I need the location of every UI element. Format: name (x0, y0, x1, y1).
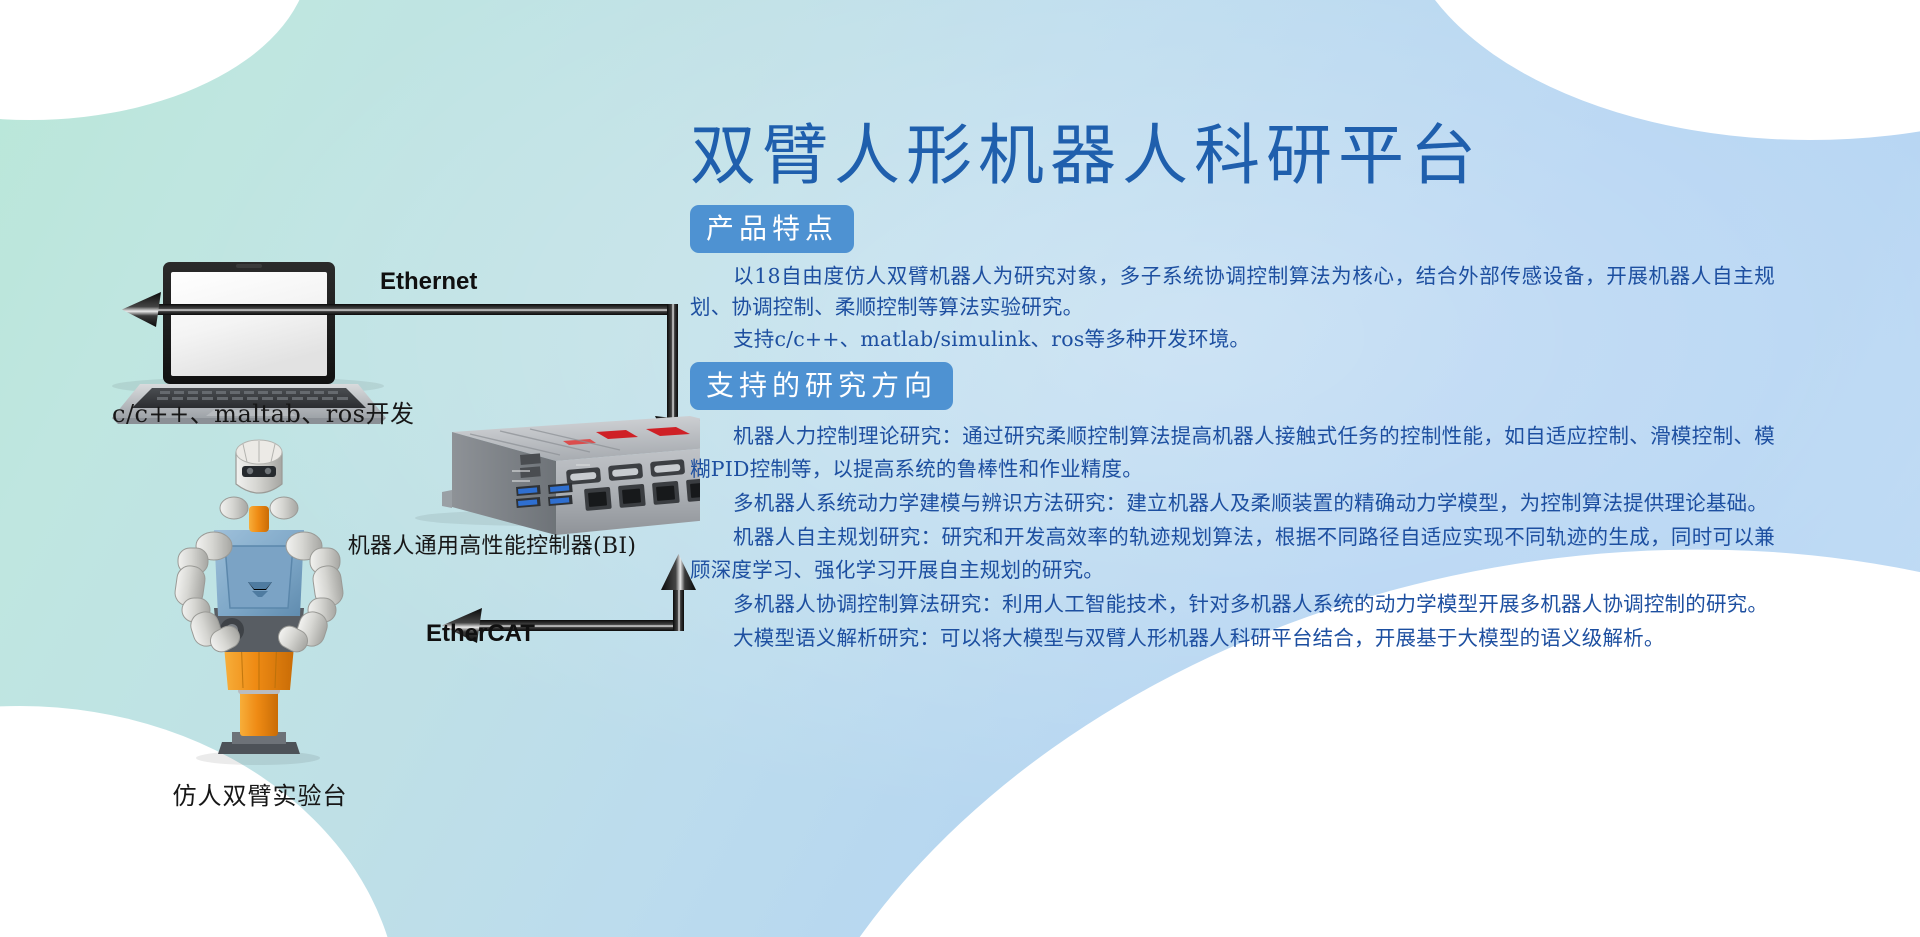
controller-caption: 机器人通用高性能控制器(BI) (348, 528, 637, 560)
laptop-caption: c/c++、maltab、ros开发 (112, 394, 414, 429)
system-diagram: Ethernet EtherCAT c/c++、maltab、ros开发 机器人… (0, 0, 700, 937)
paragraph: 支持c/c++、matlab/simulink、ros等多种开发环境。 (690, 324, 1775, 355)
paragraph: 以18自由度仿人双臂机器人为研究对象，多子系统协调控制算法为核心，结合外部传感设… (690, 261, 1775, 323)
section-research-directions: 支持的研究方向 机器人力控制理论研究：通过研究柔顺控制算法提高机器人接触式任务的… (690, 362, 1810, 656)
paragraph: 多机器人协调控制算法研究：利用人工智能技术，针对多机器人系统的动力学模型开展多机… (690, 588, 1775, 621)
diagram-graphics (0, 0, 700, 937)
section-badge-research-directions: 支持的研究方向 (690, 362, 953, 410)
paragraph: 大模型语义解析研究：可以将大模型与双臂人形机器人科研平台结合，开展基于大模型的语… (690, 622, 1775, 655)
poster-canvas: Ethernet EtherCAT c/c++、maltab、ros开发 机器人… (0, 0, 1920, 937)
controller-illustration (415, 416, 700, 535)
humanoid-robot-illustration (173, 440, 344, 765)
section-product-features: 产品特点 以18自由度仿人双臂机器人为研究对象，多子系统协调控制算法为核心，结合… (690, 205, 1810, 356)
paragraph: 多机器人系统动力学建模与辨识方法研究：建立机器人及柔顺装置的精确动力学模型，为控… (690, 487, 1775, 520)
section-body-research-directions: 机器人力控制理论研究：通过研究柔顺控制算法提高机器人接触式任务的控制性能，如自适… (690, 420, 1775, 655)
link-label-ethernet: Ethernet (380, 268, 477, 296)
section-body-product-features: 以18自由度仿人双臂机器人为研究对象，多子系统协调控制算法为核心，结合外部传感设… (690, 261, 1775, 355)
robot-caption: 仿人双臂实验台 (173, 776, 348, 811)
paragraph: 机器人自主规划研究：研究和开发高效率的轨迹规划算法，根据不同路径自适应实现不同轨… (690, 521, 1775, 587)
paragraph: 机器人力控制理论研究：通过研究柔顺控制算法提高机器人接触式任务的控制性能，如自适… (690, 420, 1775, 486)
section-badge-product-features: 产品特点 (690, 205, 854, 253)
content-column: 双臂人形机器人科研平台 产品特点 以18自由度仿人双臂机器人为研究对象，多子系统… (690, 0, 1870, 937)
page-title: 双臂人形机器人科研平台 (690, 102, 1790, 198)
link-label-ethercat: EtherCAT (426, 620, 535, 648)
